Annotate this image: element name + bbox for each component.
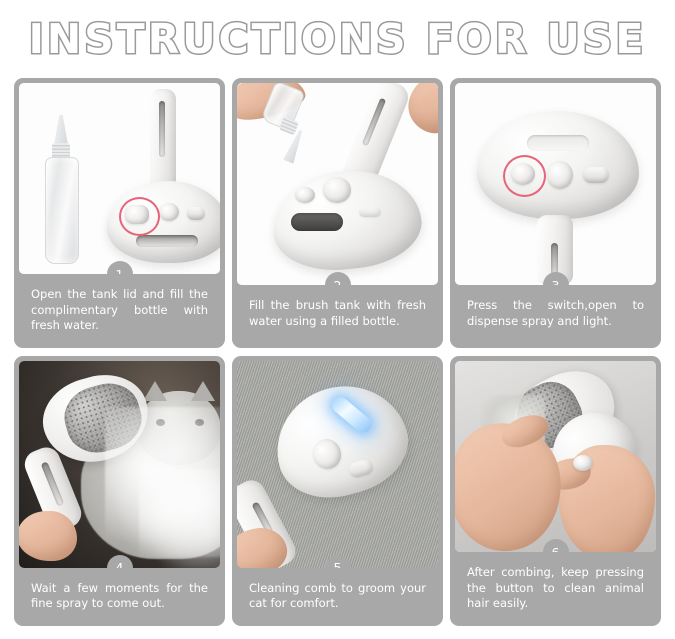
step-caption-2: Fill the brush tank with fresh water usi… <box>237 285 438 343</box>
page-title: INSTRUCTIONS FOR USE <box>29 19 647 60</box>
page-title-container: INSTRUCTIONS FOR USE <box>0 0 675 78</box>
step-caption-6: After combing, keep pressing the button … <box>455 552 656 621</box>
step-card-1: 1 Open the tank lid and fill the complim… <box>14 78 225 348</box>
release-button[interactable] <box>573 455 593 471</box>
cat-ear-left <box>143 381 167 401</box>
step-photo-1: 1 <box>19 83 220 274</box>
bottle-tip-icon <box>54 115 68 145</box>
scene-press-switch <box>455 83 656 285</box>
scene-comb-on-fur <box>237 361 438 568</box>
step-photo-2: 2 <box>237 83 438 285</box>
step-card-4: 4 Wait a few moments for the fine spray … <box>14 356 225 626</box>
step-photo-4: 4 <box>19 361 220 568</box>
step-card-2: 2 Fill the brush tank with fresh water u… <box>232 78 443 348</box>
cat-ear-right <box>191 381 215 401</box>
hand-holding-brush <box>19 511 77 561</box>
highlight-ring-icon <box>119 197 160 236</box>
tank-window <box>136 235 198 247</box>
tank-lid-open[interactable] <box>323 177 351 203</box>
spray-nozzle-button[interactable] <box>547 161 573 189</box>
scene-bottle-and-device <box>19 83 220 274</box>
cat-eye-left <box>156 419 165 426</box>
step-caption-4: Wait a few moments for the fine spray to… <box>19 568 220 621</box>
step-photo-6: 6 <box>455 361 656 552</box>
tank-window <box>291 213 343 231</box>
scene-spray-on-cat <box>19 361 220 568</box>
tank-port <box>295 187 315 203</box>
step-caption-3: Press the switch,open to dispense spray … <box>455 285 656 343</box>
device-water-tank <box>263 371 420 511</box>
release-button[interactable] <box>583 167 609 183</box>
scene-remove-hair <box>455 361 656 552</box>
spray-nozzle-button[interactable] <box>159 203 179 221</box>
steps-grid: 1 Open the tank lid and fill the complim… <box>0 78 675 626</box>
hand-right <box>403 83 438 138</box>
cat-head <box>137 391 220 465</box>
scene-filling-tank <box>237 83 438 285</box>
handle-slot <box>159 101 165 157</box>
cat-eye-right <box>195 419 204 426</box>
step-card-3: 3 Press the switch,open to dispense spra… <box>450 78 661 348</box>
step-caption-1: Open the tank lid and fill the complimen… <box>19 274 220 343</box>
step-card-5: 5 Cleaning comb to groom your cat for co… <box>232 356 443 626</box>
step-photo-3: 3 <box>455 83 656 285</box>
power-indicator <box>359 207 381 217</box>
tank-window <box>527 135 589 151</box>
side-button[interactable] <box>187 207 205 220</box>
step-card-6: 6 After combing, keep pressing the butto… <box>450 356 661 626</box>
step-photo-5: 5 <box>237 361 438 568</box>
bottle-neck <box>279 117 299 136</box>
step-caption-5: Cleaning comb to groom your cat for comf… <box>237 568 438 621</box>
highlight-ring-icon <box>503 155 546 197</box>
instructions-page: INSTRUCTIONS FOR USE <box>0 0 675 639</box>
bottle-body <box>45 157 79 264</box>
